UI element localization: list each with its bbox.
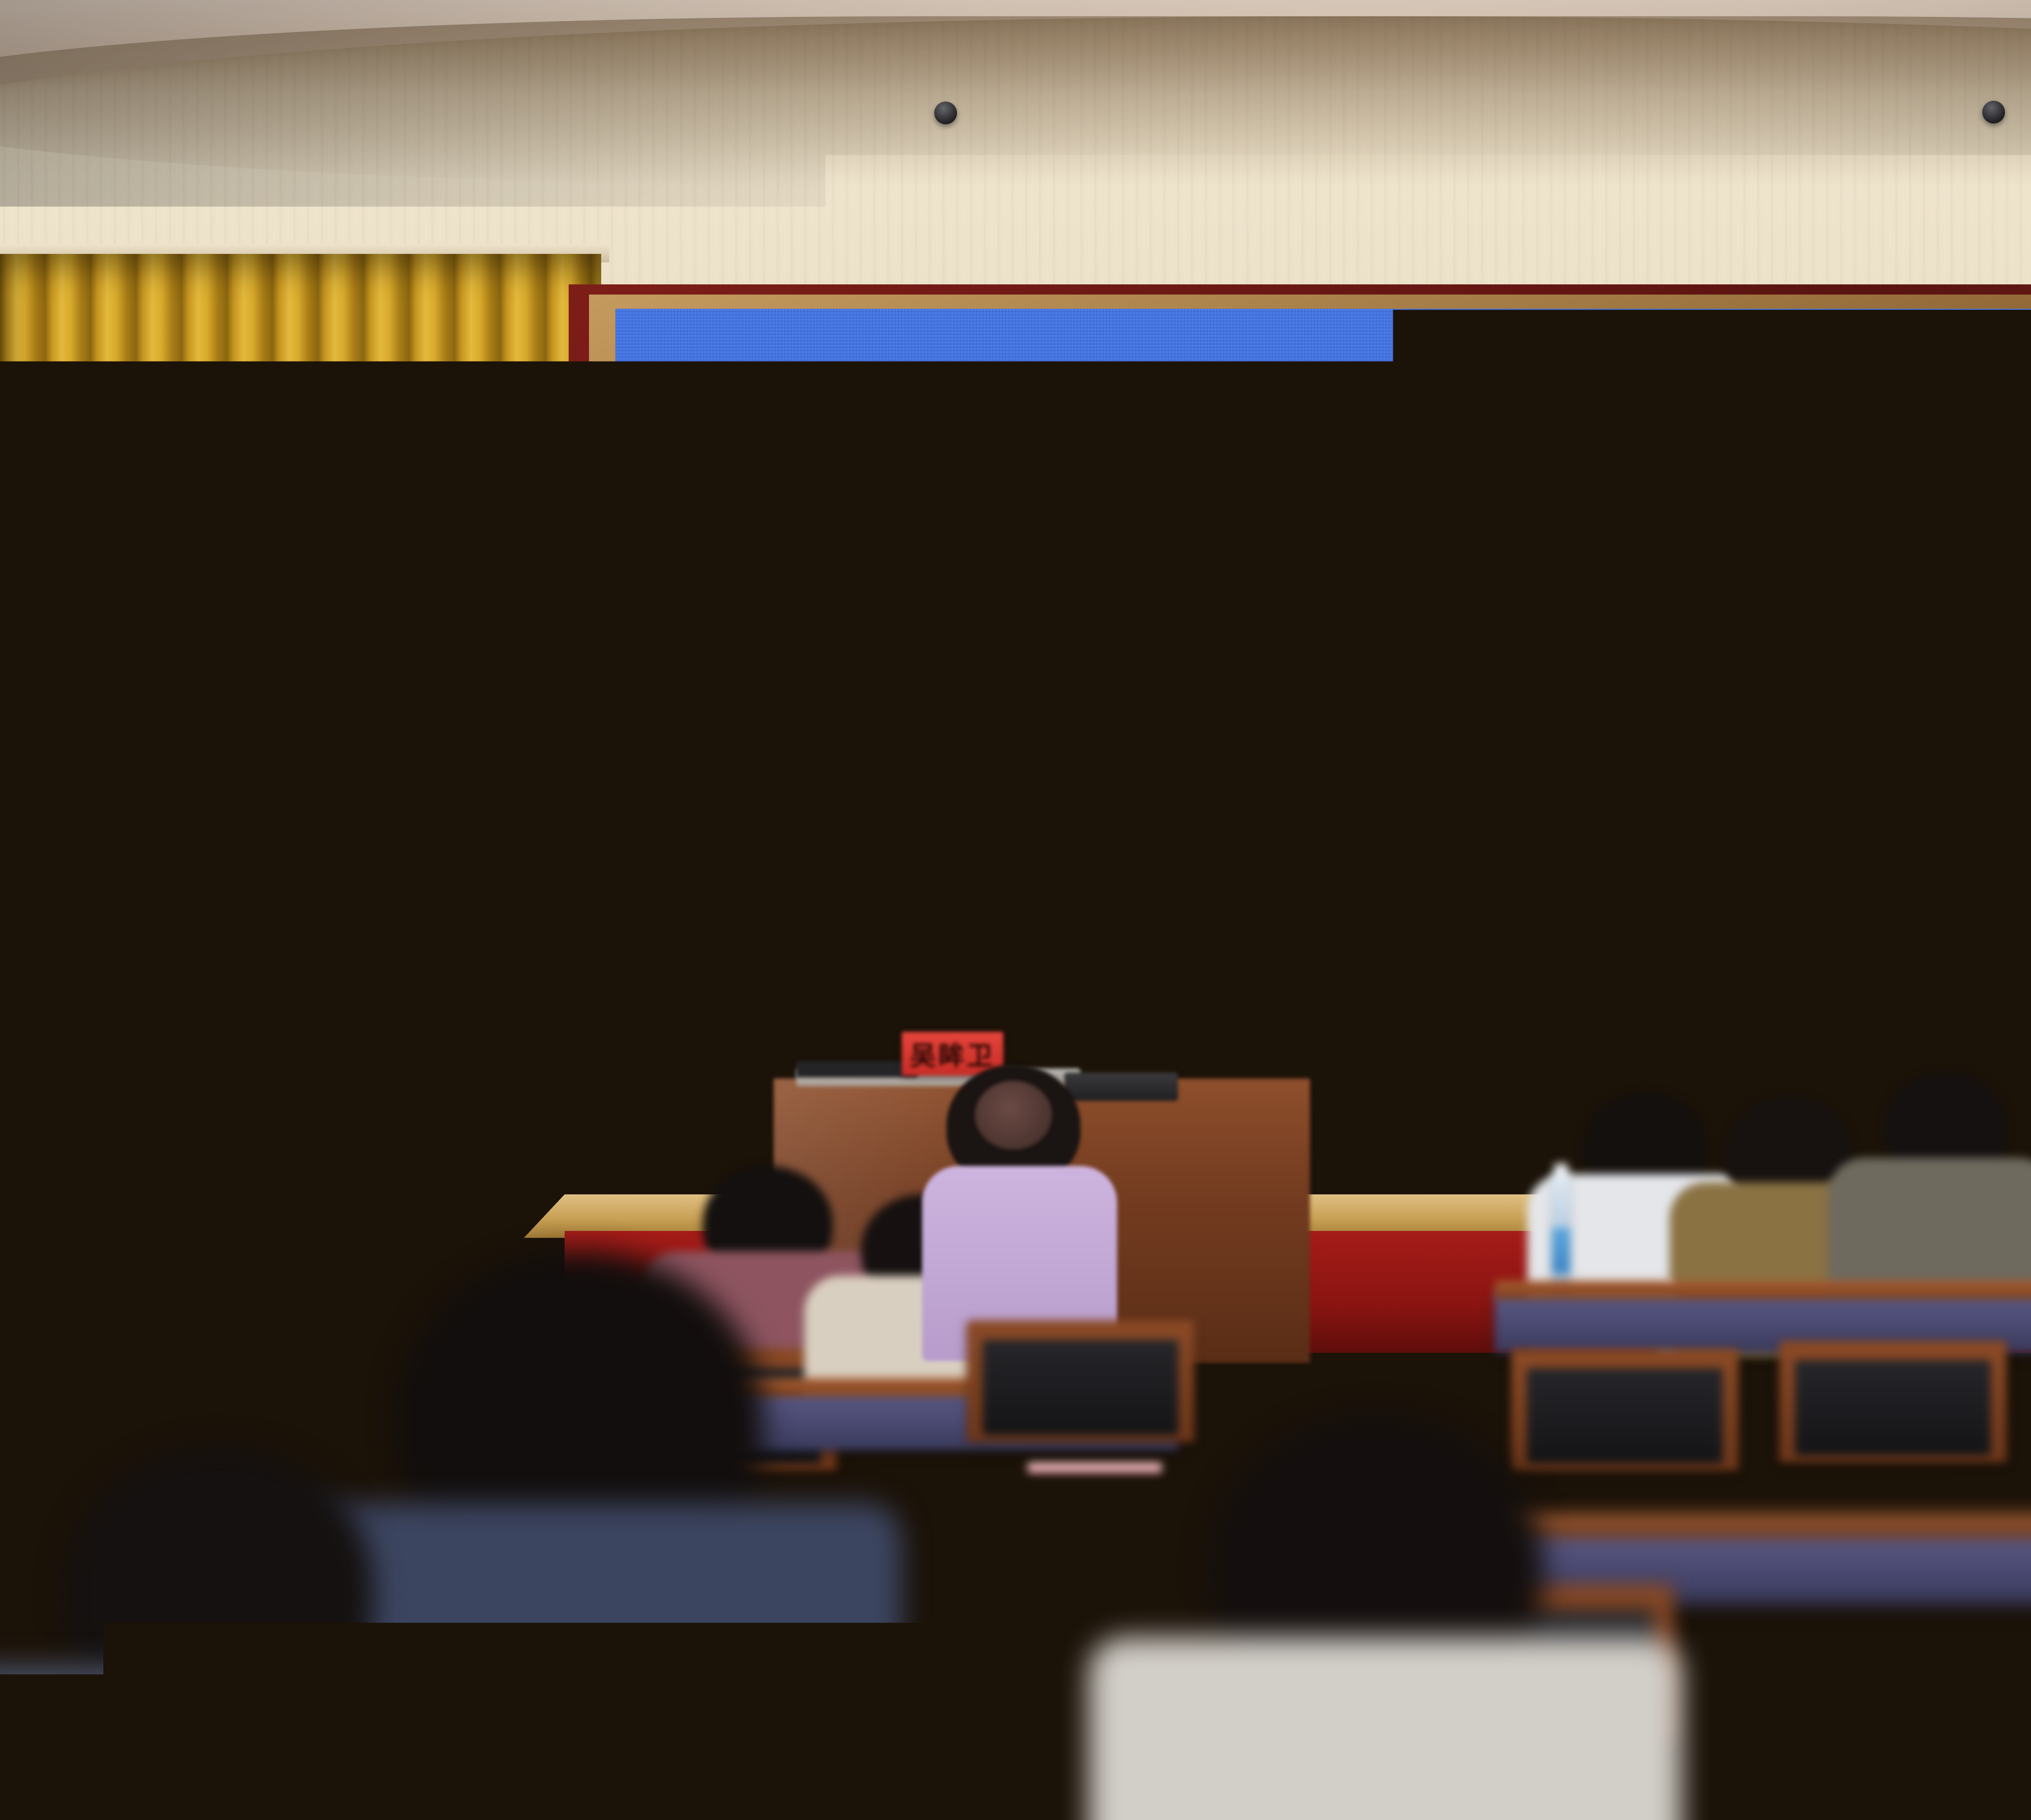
wall-top-shadow — [0, 16, 2031, 187]
speaker-nameplate-text: 吴眸卫 — [910, 1035, 995, 1072]
stage-curtain-left — [0, 254, 601, 1261]
conference-hall-scene: 黔南州司法行政系统 派出法治副校长2025年度业务培训会 黔南州司法局 黔南州教… — [0, 0, 2031, 1820]
screen-organizers: 黔南州司法局 黔南州教育局 — [1077, 799, 1742, 868]
screen-title-line-1: 黔南州司法行政系统 — [1044, 410, 1775, 518]
screen-title-line-2: 派出法治副校长2025年度业务培训会 — [724, 518, 2031, 625]
ceiling-spotlight-right-icon — [1982, 101, 2005, 123]
audience-booklet — [1028, 1462, 1162, 1473]
audience-hair-bun — [975, 1081, 1052, 1150]
audience-chair — [211, 1328, 386, 1434]
presidium-device — [796, 1061, 918, 1077]
audience-desk-edge — [0, 1284, 398, 1300]
audience-chair — [1511, 1349, 1739, 1471]
speaker-hair-front — [1007, 882, 1102, 931]
microphone-head-icon — [1081, 942, 1101, 955]
audience-chair — [1779, 1341, 2007, 1462]
led-screen: 黔南州司法行政系统 派出法治副校长2025年度业务培训会 黔南州司法局 黔南州教… — [615, 309, 2031, 1186]
audience-desk-edge — [1495, 1280, 2031, 1299]
ceiling-spotlight-left-icon — [934, 102, 957, 124]
foreground-torso — [1852, 1592, 2031, 1820]
screen-date: 2025年8月 — [1272, 886, 1547, 954]
audience-chair — [967, 1320, 1194, 1442]
foreground-torso — [0, 1666, 479, 1820]
foreground-torso — [1089, 1637, 1682, 1820]
microphone-base — [1064, 1072, 1178, 1101]
audience-chair — [16, 1337, 191, 1442]
